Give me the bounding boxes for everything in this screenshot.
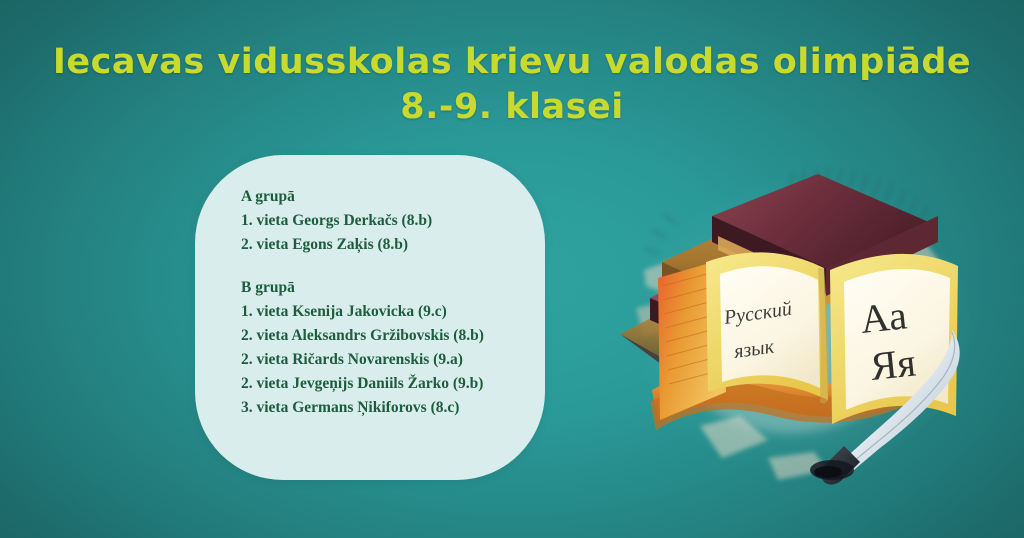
open-book-with-quill-illustration: Русский язык Аа Яя (600, 158, 1004, 494)
result-line: 2. vieta Jevgeņijs Daniils Žarko (9.b) (241, 372, 531, 396)
group-title: A grupā (241, 185, 531, 209)
result-group-b: B grupā 1. vieta Ksenija Jakovicka (9.c)… (241, 276, 531, 421)
result-line: 3. vieta Germans Ņikiforovs (8.c) (241, 396, 531, 420)
group-title: B grupā (241, 276, 531, 300)
book-text-yaya: Яя (868, 339, 918, 388)
title-line-1: Iecavas vidusskolas krievu valodas olimp… (0, 40, 1024, 85)
result-line: 2. vieta Ričards Novarenskis (9.a) (241, 348, 531, 372)
results-card: A grupā 1. vieta Georgs Derkačs (8.b) 2.… (195, 155, 545, 480)
result-line: 1. vieta Ksenija Jakovicka (9.c) (241, 300, 531, 324)
book-text-aa: Аа (858, 292, 909, 342)
results-content: A grupā 1. vieta Georgs Derkačs (8.b) 2.… (241, 185, 531, 421)
result-group-a: A grupā 1. vieta Georgs Derkačs (8.b) 2.… (241, 185, 531, 258)
poster-canvas: Iecavas vidusskolas krievu valodas olimp… (0, 0, 1024, 538)
result-line: 2. vieta Egons Zaķis (8.b) (241, 233, 531, 257)
title-line-2: 8.-9. klasei (0, 85, 1024, 130)
page-title: Iecavas vidusskolas krievu valodas olimp… (0, 40, 1024, 130)
result-line: 1. vieta Georgs Derkačs (8.b) (241, 209, 531, 233)
result-line: 2. vieta Aleksandrs Gržibovskis (8.b) (241, 324, 531, 348)
